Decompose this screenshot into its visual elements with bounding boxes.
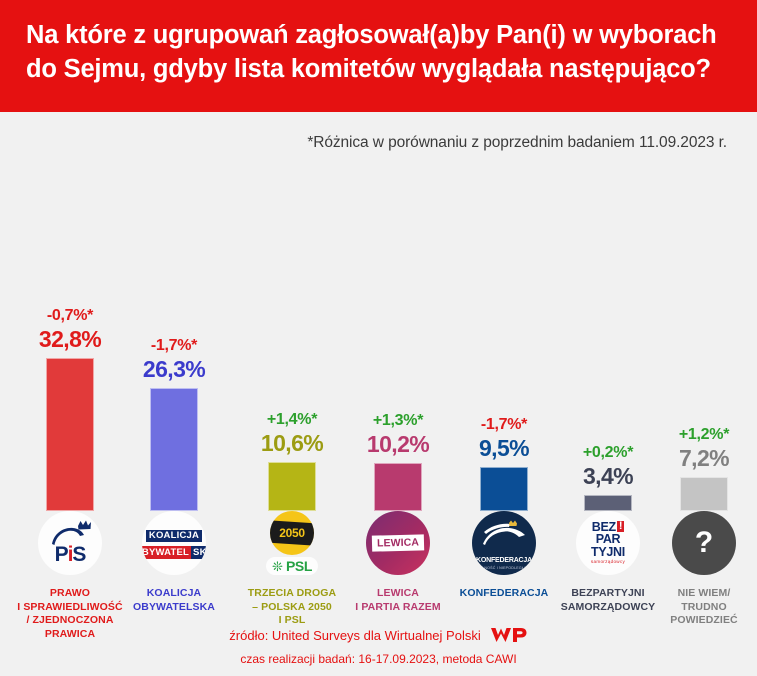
delta-label: -1,7%* (122, 337, 226, 355)
bar[interactable] (374, 463, 422, 511)
bar[interactable] (150, 388, 198, 511)
pis-wordmark: PiS (42, 543, 98, 567)
clover-icon: ❊ (272, 560, 283, 573)
exclamation-icon: ! (617, 521, 624, 532)
bar-column: +1,2%*7,2% (652, 426, 756, 511)
bar-wrapper (18, 358, 122, 511)
bez-line-3: TYJNI (591, 546, 625, 559)
logo-cell: PiS (18, 511, 122, 575)
comparison-note: *Różnica w porównaniu z poprzednim badan… (307, 134, 727, 151)
pis-logo-icon: PiS (38, 511, 102, 575)
value-label: 3,4% (556, 463, 660, 490)
psl-icon: ❊PSL (266, 557, 318, 575)
header-banner: Na które z ugrupowań zagłosował(a)by Pan… (0, 0, 757, 112)
bar[interactable] (584, 495, 632, 511)
wp-logo (490, 625, 528, 645)
footer-method-line: czas realizacji badań: 16-17.09.2023, me… (0, 652, 757, 666)
bar-wrapper (652, 477, 756, 511)
party-name-label: KONFEDERACJA (449, 587, 559, 601)
lewica-logo-icon: LEWICA (366, 511, 430, 575)
value-label: 26,3% (122, 356, 226, 383)
logo-cell: ? (652, 511, 756, 575)
footer-source-line: źródło: United Surveys dla Wirtualnej Po… (0, 625, 757, 645)
party-name-label: TRZECIA DROGA – POLSKA 2050 I PSL (237, 587, 347, 628)
konfederacja-wordmark: KONFEDERACJA (472, 557, 536, 564)
bar-wrapper (122, 388, 226, 511)
ko-line-2: OBYWATELSKA (142, 548, 206, 558)
value-label: 10,6% (240, 430, 344, 457)
logo-cell: KONFEDERACJAWOLNOŚĆ I NIEPODLEGŁOŚĆ (452, 511, 556, 575)
bar-wrapper (452, 467, 556, 511)
logo-cell: 2050❊PSL (240, 511, 344, 575)
polska-2050-wordmark: 2050 (279, 526, 305, 540)
party-logo-row: PiSKOALICJAOBYWATELSKA2050❊PSLLEWICAKONF… (0, 511, 757, 581)
konfederacja-subtext: WOLNOŚĆ I NIEPODLEGŁOŚĆ (472, 566, 536, 570)
bez-subtext: samorządowcy (591, 560, 625, 565)
value-label: 9,5% (452, 435, 556, 462)
bar[interactable] (46, 358, 94, 511)
bar-column: -1,7%*9,5% (452, 416, 556, 511)
bar-chart: -0,7%*32,8%-1,7%*26,3%+1,4%*10,6%+1,3%*1… (0, 166, 757, 511)
ko-line-1: KOALICJA (146, 530, 202, 542)
bar[interactable] (268, 462, 316, 511)
value-label: 32,8% (18, 326, 122, 353)
bezpartyjni-logo-icon: BEZ!PARTYJNIsamorządowcy (576, 511, 640, 575)
bar[interactable] (480, 467, 528, 511)
konfederacja-logo-icon: KONFEDERACJAWOLNOŚĆ I NIEPODLEGŁOŚĆ (472, 511, 536, 575)
party-name-label: LEWICA I PARTIA RAZEM (343, 587, 453, 614)
delta-label: +1,3%* (346, 412, 450, 430)
subtitle-row: *Różnica w porównaniu z poprzednim badan… (0, 112, 757, 152)
bar-column: +1,4%*10,6% (240, 411, 344, 511)
bar-column: +0,2%*3,4% (556, 444, 660, 511)
party-name-label: BEZPARTYJNI SAMORZĄDOWCY (553, 587, 663, 614)
page-title: Na które z ugrupowań zagłosował(a)by Pan… (26, 18, 731, 86)
ko-logo-icon: KOALICJAOBYWATELSKA (142, 511, 206, 575)
party-name-label: KOALICJA OBYWATELSKA (119, 587, 229, 614)
delta-label: +1,2%* (652, 426, 756, 444)
polska-2050-icon: 2050 (270, 511, 314, 555)
logo-cell: BEZ!PARTYJNIsamorządowcy (556, 511, 660, 575)
delta-label: +1,4%* (240, 411, 344, 429)
bar-wrapper (240, 462, 344, 511)
bar-column: -1,7%*26,3% (122, 337, 226, 511)
logo-cell: LEWICA (346, 511, 450, 575)
source-text: źródło: United Surveys dla Wirtualnej Po… (229, 628, 480, 643)
question-mark-icon: ? (672, 511, 736, 575)
value-label: 7,2% (652, 445, 756, 472)
delta-label: -0,7%* (18, 307, 122, 325)
footer: źródło: United Surveys dla Wirtualnej Po… (0, 625, 757, 666)
delta-label: -1,7%* (452, 416, 556, 434)
bar-column: -0,7%*32,8% (18, 307, 122, 511)
bar[interactable] (680, 477, 728, 511)
psl-wordmark: PSL (286, 558, 312, 574)
lewica-wordmark: LEWICA (372, 534, 424, 551)
bar-wrapper (346, 463, 450, 511)
value-label: 10,2% (346, 431, 450, 458)
party-name-label: NIE WIEM/ TRUDNO POWIEDZIEĆ (649, 587, 757, 628)
bar-wrapper (556, 495, 660, 511)
trzecia-droga-logo-icon: 2050❊PSL (266, 511, 318, 575)
logo-cell: KOALICJAOBYWATELSKA (122, 511, 226, 575)
delta-label: +0,2%* (556, 444, 660, 462)
bar-column: +1,3%*10,2% (346, 412, 450, 511)
